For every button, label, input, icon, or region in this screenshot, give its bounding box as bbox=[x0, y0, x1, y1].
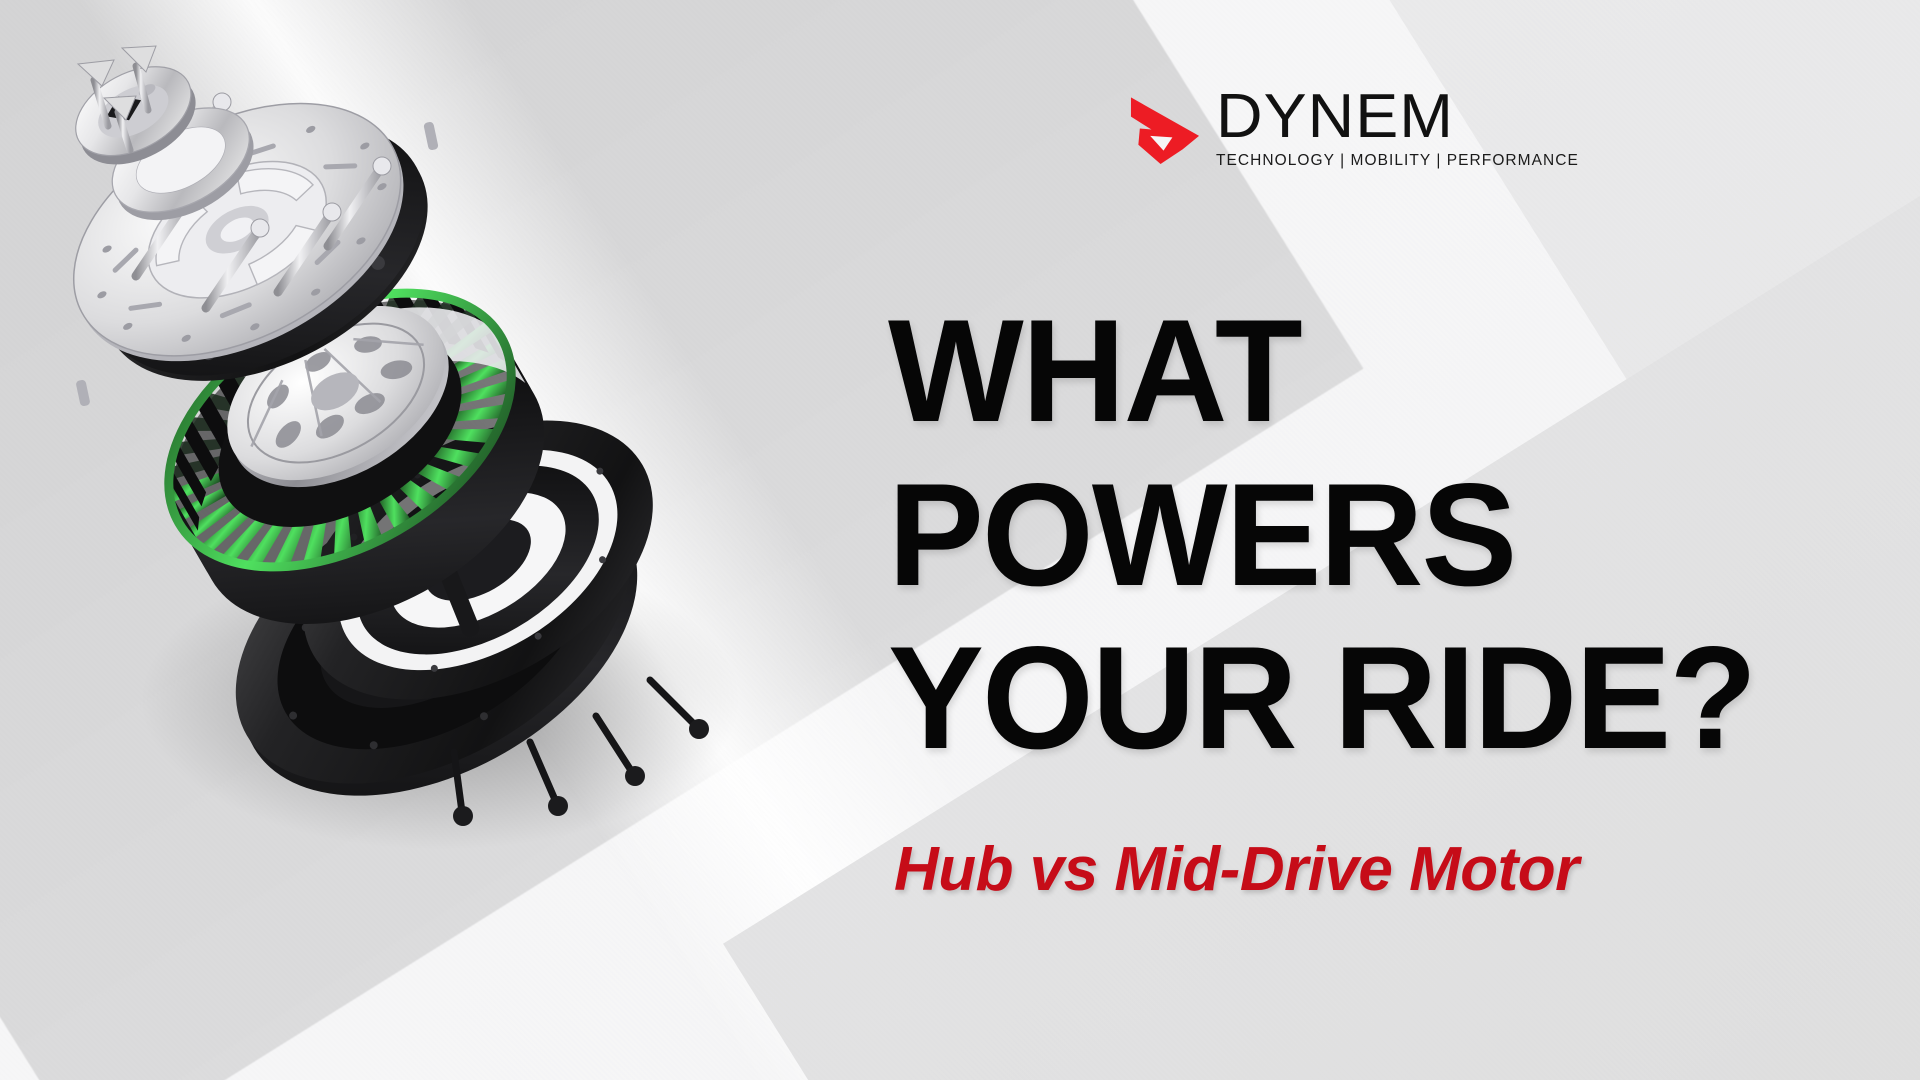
dynem-arrow-icon bbox=[1128, 90, 1202, 164]
headline-block: WHAT POWERS YOUR RIDE? bbox=[888, 300, 1888, 769]
headline-line-1: WHAT bbox=[888, 300, 1873, 442]
brand-wordmark: DYNEM TECHNOLOGY | MOBILITY | PERFORMANC… bbox=[1216, 86, 1579, 170]
poster-canvas: DYNEM TECHNOLOGY | MOBILITY | PERFORMANC… bbox=[0, 0, 1920, 1080]
brand-name: DYNEM bbox=[1216, 88, 1593, 145]
headline-line-3: YOUR RIDE? bbox=[888, 627, 1873, 769]
headline-line-2: POWERS bbox=[888, 464, 1873, 606]
subtitle-text: Hub vs Mid-Drive Motor bbox=[894, 834, 1579, 905]
brand-tagline: TECHNOLOGY | MOBILITY | PERFORMANCE bbox=[1216, 152, 1579, 170]
brand-logo[interactable]: DYNEM TECHNOLOGY | MOBILITY | PERFORMANC… bbox=[1128, 86, 1788, 168]
hub-motor-render bbox=[10, 0, 830, 880]
